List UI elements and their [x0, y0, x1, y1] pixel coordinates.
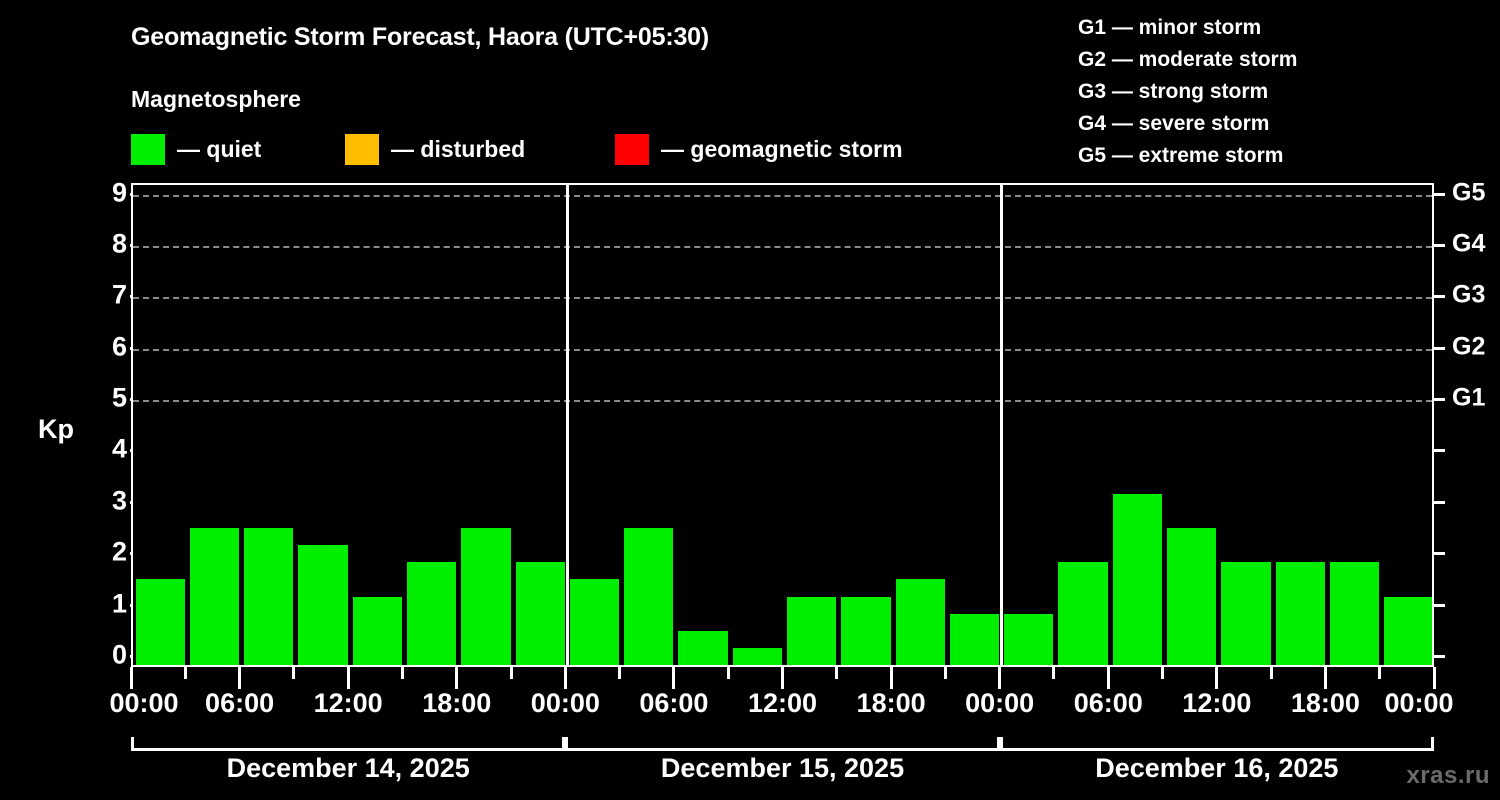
kp-bar: [136, 579, 185, 665]
x-tick-label-0: 00:00: [109, 688, 178, 719]
kp-bar: [353, 597, 402, 665]
right-tick-kp-3: [1434, 501, 1445, 504]
date-label-2: December 15, 2025: [661, 753, 904, 784]
y-tick-label-3: 3: [93, 487, 127, 514]
x-tick-major: [564, 667, 567, 689]
green-swatch: [131, 134, 165, 165]
legend-label: — quiet: [177, 136, 261, 163]
x-tick-label-1: 06:00: [205, 688, 274, 719]
date-band-2: [565, 737, 999, 751]
x-tick-label-8: 00:00: [965, 688, 1034, 719]
legend-entry-0: — quiet: [131, 132, 261, 166]
x-tick-label-7: 18:00: [857, 688, 926, 719]
legend-label: — disturbed: [391, 136, 525, 163]
kp-bar: [461, 528, 510, 665]
subtitle-magnetosphere: Magnetosphere: [131, 86, 301, 113]
y-axis-left: 0123456789: [55, 0, 127, 800]
date-label-1: December 14, 2025: [227, 753, 470, 784]
kp-bar: [950, 614, 999, 665]
x-tick-label-11: 18:00: [1291, 688, 1360, 719]
kp-bar: [1276, 562, 1325, 665]
y-tick-label-0: 0: [93, 642, 127, 669]
x-tick-label-4: 00:00: [531, 688, 600, 719]
g-axis-label-g2: G2: [1452, 332, 1485, 361]
kp-bar: [841, 597, 890, 665]
red-swatch: [615, 134, 649, 165]
right-tick-kp-6: [1434, 347, 1445, 350]
date-band-1: [131, 737, 565, 751]
y-tick-label-2: 2: [93, 539, 127, 566]
x-tick-minor: [1052, 667, 1055, 679]
x-tick-minor: [727, 667, 730, 679]
x-tick-major: [130, 667, 133, 689]
right-tick-kp-4: [1434, 449, 1445, 452]
x-tick-minor: [944, 667, 947, 679]
g-axis-label-g5: G5: [1452, 178, 1485, 207]
watermark: xras.ru: [1406, 762, 1490, 790]
x-tick-major: [238, 667, 241, 689]
kp-bar: [1384, 597, 1433, 665]
x-tick-major: [1215, 667, 1218, 689]
bars-layer: [133, 185, 1432, 665]
x-tick-minor: [1270, 667, 1273, 679]
y-axis-title: Kp: [38, 414, 74, 445]
plot-area: [131, 183, 1434, 667]
x-tick-minor: [618, 667, 621, 679]
x-tick-label-9: 06:00: [1074, 688, 1143, 719]
kp-bar: [1330, 562, 1379, 665]
right-tick-kp-7: [1434, 295, 1445, 298]
x-tick-minor: [835, 667, 838, 679]
x-tick-major: [1433, 667, 1436, 689]
kp-bar: [298, 545, 347, 665]
right-tick-kp-2: [1434, 552, 1445, 555]
kp-bar: [1113, 494, 1162, 665]
date-band-3: [1000, 737, 1434, 751]
right-tick-kp-5: [1434, 398, 1445, 401]
g-axis-label-g4: G4: [1452, 229, 1485, 258]
right-tick-kp-1: [1434, 604, 1445, 607]
y-tick-label-7: 7: [93, 282, 127, 309]
kp-bar: [624, 528, 673, 665]
x-tick-major: [781, 667, 784, 689]
kp-bar: [1004, 614, 1053, 665]
y-tick-label-8: 8: [93, 230, 127, 257]
legend-label: — geomagnetic storm: [661, 136, 903, 163]
x-tick-major: [672, 667, 675, 689]
x-tick-label-6: 12:00: [748, 688, 817, 719]
date-label-3: December 16, 2025: [1095, 753, 1338, 784]
g-axis-label-g3: G3: [1452, 281, 1485, 310]
y-tick-label-4: 4: [93, 436, 127, 463]
x-tick-label-5: 06:00: [639, 688, 708, 719]
x-tick-label-3: 18:00: [422, 688, 491, 719]
right-tick-kp-9: [1434, 193, 1445, 196]
x-tick-label-12: 00:00: [1384, 688, 1453, 719]
x-tick-label-2: 12:00: [314, 688, 383, 719]
right-tick-kp-8: [1434, 244, 1445, 247]
kp-bar: [244, 528, 293, 665]
amber-swatch: [345, 134, 379, 165]
x-tick-major: [998, 667, 1001, 689]
x-tick-minor: [184, 667, 187, 679]
x-tick-major: [1324, 667, 1327, 689]
kp-bar: [787, 597, 836, 665]
kp-bar: [570, 579, 619, 665]
x-tick-label-10: 12:00: [1182, 688, 1251, 719]
kp-bar: [896, 579, 945, 665]
kp-bar: [407, 562, 456, 665]
kp-bar: [678, 631, 727, 665]
y-tick-label-6: 6: [93, 333, 127, 360]
page-title: Geomagnetic Storm Forecast, Haora (UTC+0…: [131, 23, 709, 52]
legend-entry-2: — geomagnetic storm: [615, 132, 903, 166]
g-axis-label-g1: G1: [1452, 384, 1485, 413]
x-tick-major: [1107, 667, 1110, 689]
x-tick-minor: [292, 667, 295, 679]
x-tick-major: [890, 667, 893, 689]
y-tick-label-1: 1: [93, 590, 127, 617]
x-tick-minor: [401, 667, 404, 679]
kp-bar: [1058, 562, 1107, 665]
x-tick-major: [347, 667, 350, 689]
kp-bar: [1221, 562, 1270, 665]
x-tick-minor: [1378, 667, 1381, 679]
legend-entry-1: — disturbed: [345, 132, 525, 166]
g-axis-right: G1G2G3G4G5: [1434, 0, 1500, 800]
kp-bar: [516, 562, 565, 665]
right-tick-kp-0: [1434, 655, 1445, 658]
x-tick-minor: [1161, 667, 1164, 679]
y-tick-label-9: 9: [93, 179, 127, 206]
y-tick-label-5: 5: [93, 385, 127, 412]
kp-bar: [733, 648, 782, 665]
kp-bar: [190, 528, 239, 665]
x-tick-minor: [510, 667, 513, 679]
x-tick-major: [455, 667, 458, 689]
kp-bar: [1167, 528, 1216, 665]
